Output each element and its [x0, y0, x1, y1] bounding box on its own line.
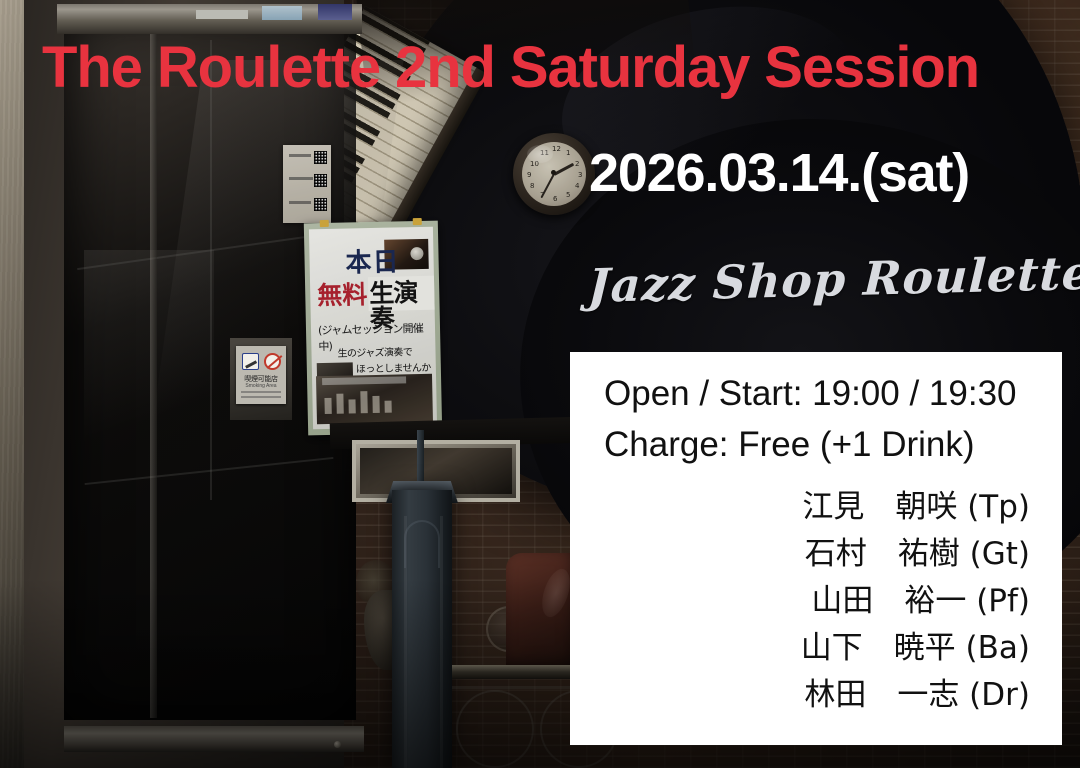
cigarette-icon [242, 353, 259, 370]
poster-photo-bottles [324, 391, 391, 414]
smoking-sign-icons [239, 350, 283, 372]
bottle [360, 391, 367, 413]
flyer-canvas: 12 1 2 3 4 5 6 7 8 9 10 11 [0, 0, 1080, 768]
social-qr-flyer [283, 145, 331, 223]
poster-headline: 本日 [345, 249, 400, 276]
qr-code-instagram [314, 174, 327, 187]
member-row: 山田 裕一 (Pf) [570, 578, 1030, 625]
member-row: 山下 暁平 (Ba) [570, 625, 1030, 672]
poster-photo-bottom [316, 374, 433, 424]
clock-number: 5 [566, 191, 570, 199]
qr-label-website [289, 154, 311, 157]
clock-number: 3 [578, 171, 582, 179]
member-row: 林田 一志 (Dr) [570, 672, 1030, 719]
bottle [372, 396, 379, 413]
door-top-sign [262, 6, 302, 20]
no-minors-icon [264, 353, 281, 370]
clock-glass-glare [527, 145, 553, 163]
clock-number: 8 [530, 182, 534, 190]
poster-free-text: 無料 [317, 282, 368, 308]
poster-clip [413, 218, 422, 225]
charge-line: Charge: Free (+1 Drink) [604, 425, 975, 465]
info-panel: Open / Start: 19:00 / 19:30 Charge: Free… [570, 352, 1062, 745]
door-top-sign [318, 4, 352, 20]
storefront-poster: 本日 無料 生演奏 (ジャムセッション開催中) 生のジャズ演奏で ほっとしません… [304, 221, 442, 436]
member-list: 江見 朝咲 (Tp) 石村 祐樹 (Gt) 山田 裕一 (Pf) 山下 暁平 (… [570, 484, 1062, 720]
event-date: 2026.03.14.(sat) [589, 142, 969, 204]
bottle [385, 401, 392, 413]
antique-clock: 12 1 2 3 4 5 6 7 8 9 10 11 [513, 133, 595, 215]
smoking-sign-en-label: Smoking Area [239, 383, 283, 389]
qr-code-website [314, 151, 327, 164]
poster-clip [320, 220, 329, 227]
clock-center-pin [551, 170, 556, 175]
poster-photo-bar [322, 376, 406, 385]
qr-label-facebook [289, 201, 311, 204]
bottle [324, 398, 331, 414]
poster-sheet: 本日 無料 生演奏 (ジャムセッション開催中) 生のジャズ演奏で ほっとしません… [309, 227, 437, 430]
clock-number: 9 [527, 171, 531, 179]
clock-hour-hand [553, 163, 574, 176]
open-start-line: Open / Start: 19:00 / 19:30 [604, 374, 1017, 414]
clock-number: 12 [552, 145, 561, 153]
qr-code-facebook [314, 198, 327, 211]
bottle [336, 394, 343, 414]
page-title: The Roulette 2nd Saturday Session [42, 38, 1052, 97]
clock-number: 6 [553, 195, 557, 203]
qr-label-instagram [289, 177, 313, 180]
member-row: 石村 祐樹 (Gt) [570, 531, 1030, 578]
smoking-sign-fine-print [241, 391, 281, 393]
glass-reflection [84, 250, 214, 480]
door-top-sign [196, 10, 248, 19]
glass-edge-line [210, 40, 212, 500]
clock-number: 2 [575, 160, 579, 168]
bottle [348, 399, 355, 413]
poster-line-1: 生のジャズ演奏で [337, 343, 412, 360]
clock-number: 1 [566, 149, 570, 157]
post-arch-detail [404, 520, 440, 568]
clock-number: 4 [575, 182, 579, 190]
smoking-sign-fine-print [241, 396, 281, 398]
door-top-rail [57, 4, 362, 34]
poster-line-2: ほっとしませんか [356, 359, 431, 376]
member-row: 江見 朝咲 (Tp) [570, 484, 1030, 531]
